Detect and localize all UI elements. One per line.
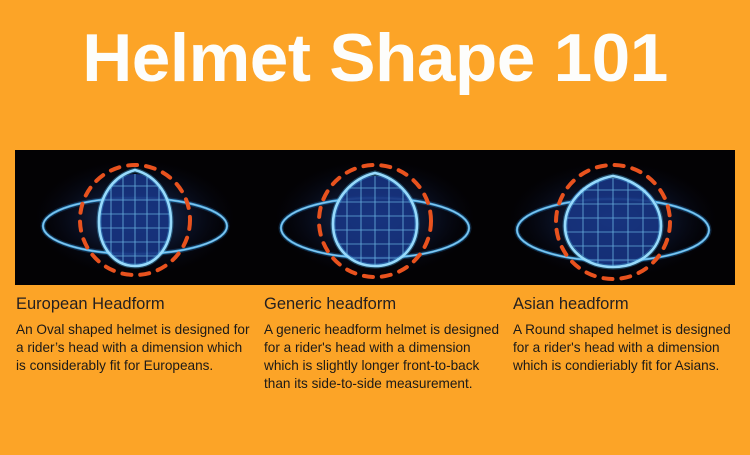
- column-heading-asian: Asian headform: [513, 294, 745, 314]
- column-asian: Asian headform A Round shaped helmet is …: [513, 294, 745, 375]
- headform-diagram-panel: [15, 150, 735, 285]
- column-body-european: An Oval shaped helmet is designed for a …: [16, 321, 254, 375]
- column-body-asian: A Round shaped helmet is designed for a …: [513, 321, 745, 375]
- column-heading-generic: Generic headform: [264, 294, 502, 314]
- column-body-generic: A generic headform helmet is designed fo…: [264, 321, 502, 393]
- asian-headform-diagram: [495, 150, 735, 285]
- page-title: Helmet Shape 101: [0, 22, 750, 94]
- column-european: European Headform An Oval shaped helmet …: [16, 294, 254, 375]
- column-heading-european: European Headform: [16, 294, 254, 314]
- european-headform-diagram: [15, 150, 255, 285]
- generic-headform-diagram: [255, 150, 495, 285]
- column-generic: Generic headform A generic headform helm…: [264, 294, 502, 393]
- helmet-shape-poster: Helmet Shape 101: [0, 0, 750, 455]
